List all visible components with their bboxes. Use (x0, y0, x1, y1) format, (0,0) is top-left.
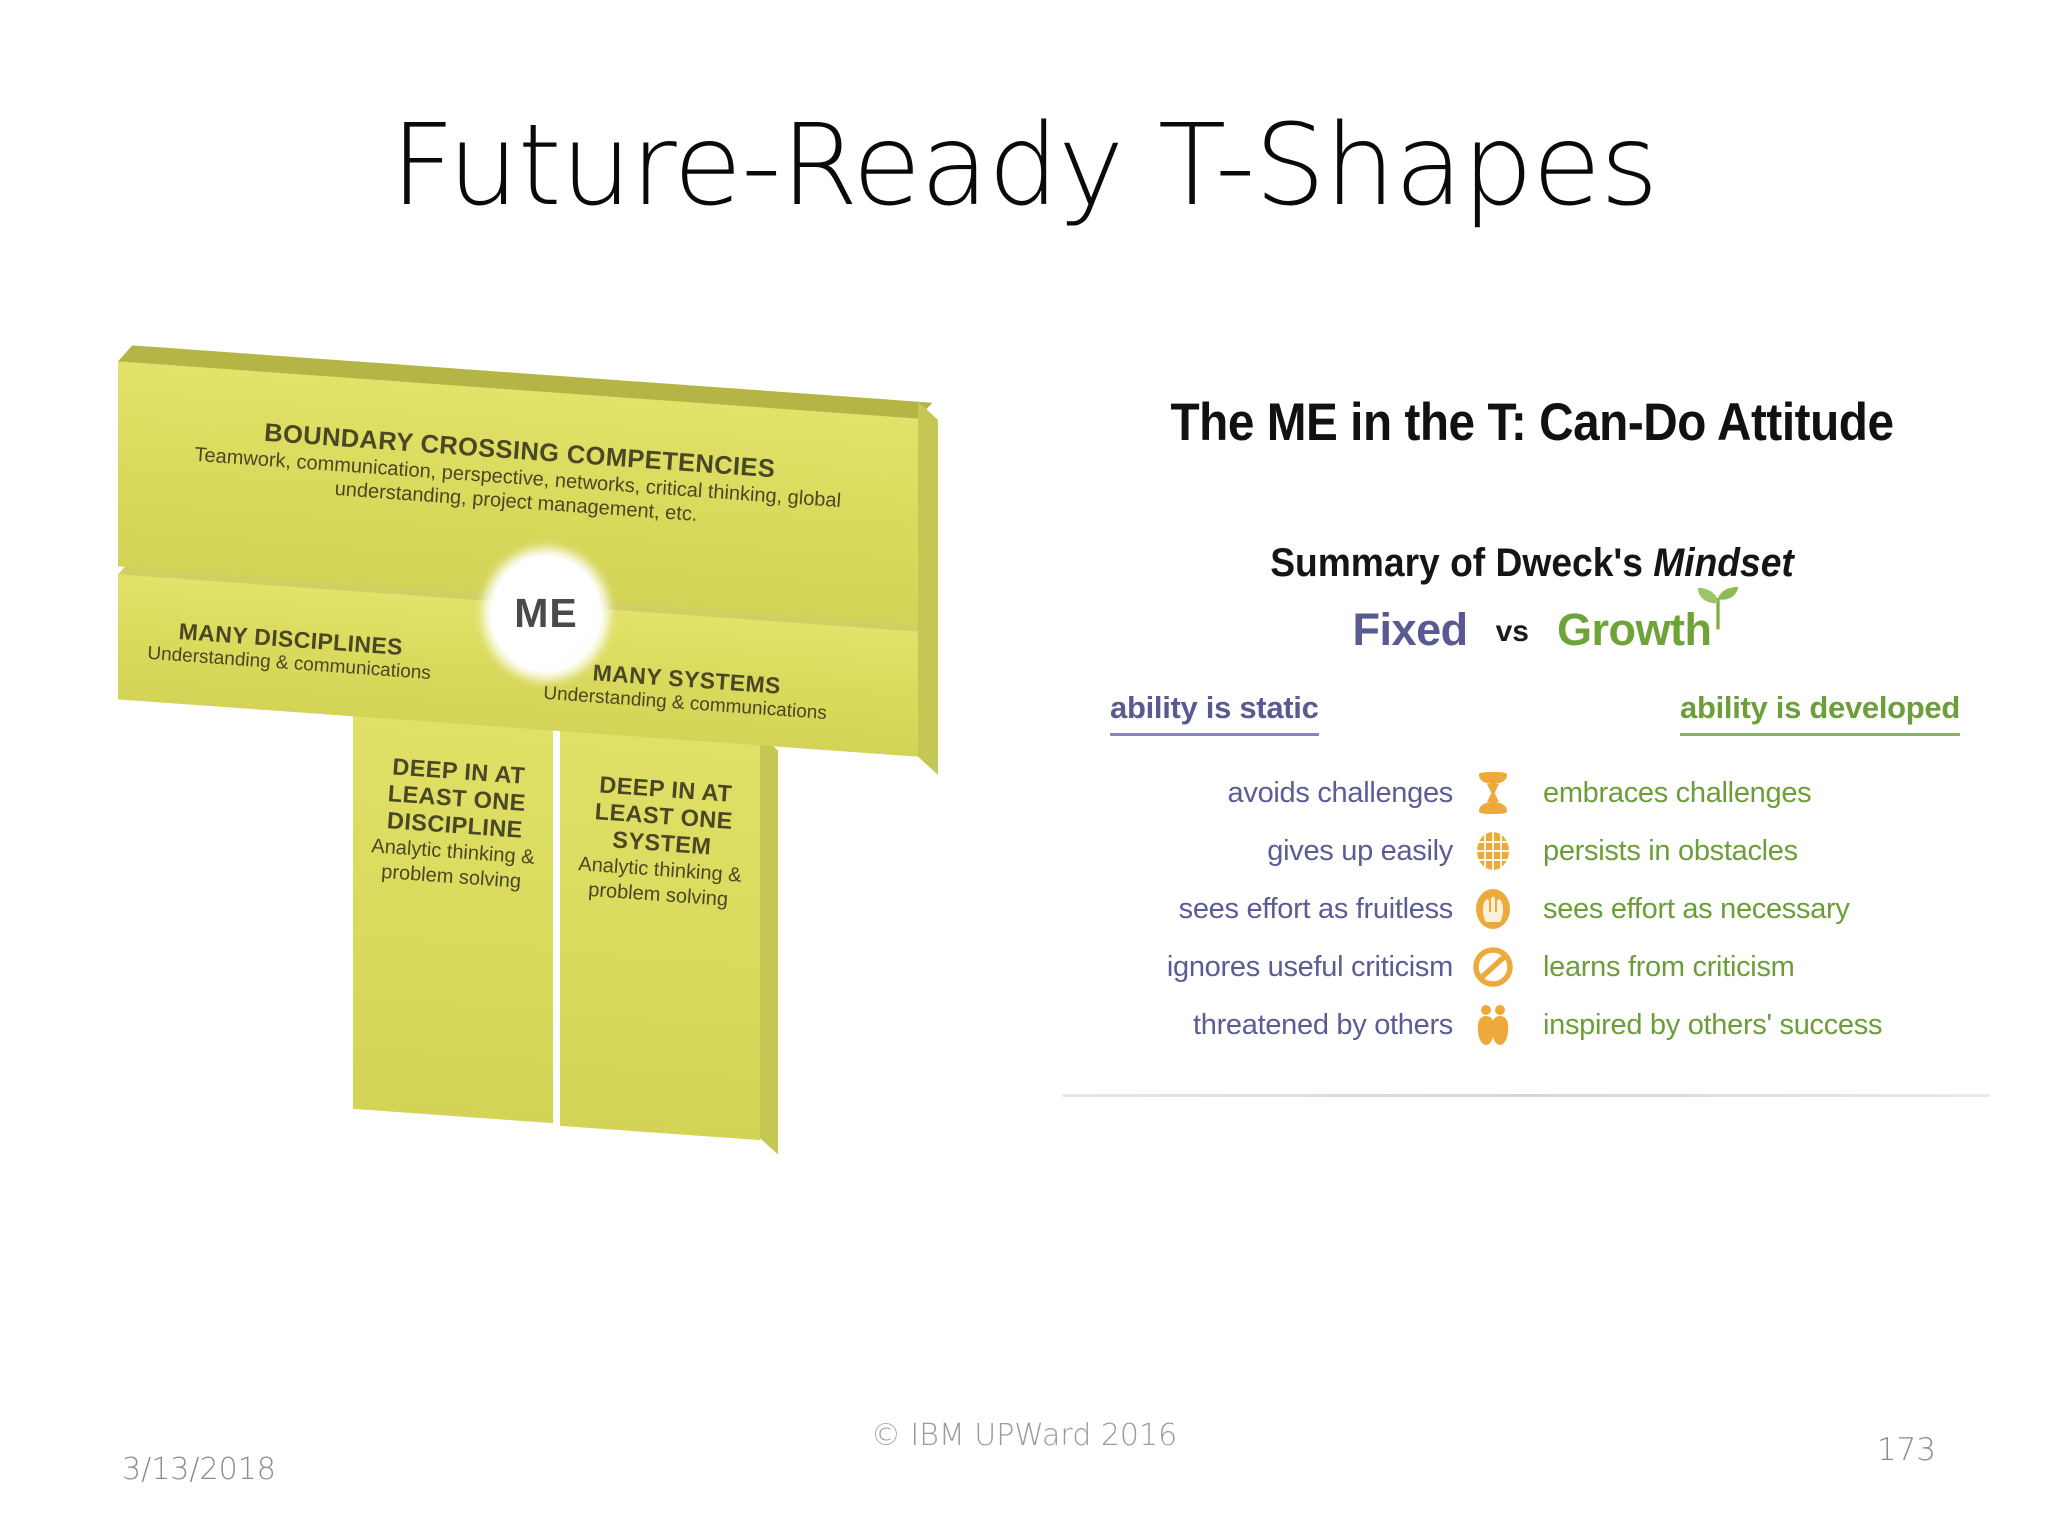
maze-ball-icon (1453, 830, 1533, 872)
row-fixed-text: avoids challenges (1101, 777, 1453, 810)
mindset-row: threatened by others inspired by others'… (1062, 996, 2002, 1054)
mindset-subtitle: Summary of Dweck's Mindset (1095, 541, 1969, 586)
mindset-row: avoids challenges embraces challenges (1062, 764, 2002, 822)
footer-copyright: © IBM UPWard 2016 (0, 1418, 2048, 1453)
label-deep-discipline-heading: DEEP IN AT LEAST ONE DISCIPLINE (365, 752, 548, 845)
t-shape-diagram: BOUNDARY CROSSING COMPETENCIES Teamwork,… (118, 378, 998, 1178)
mindset-row: sees effort as fruitless sees effort as … (1062, 880, 2002, 938)
slab-top-right-face (918, 402, 938, 642)
label-deep-system: DEEP IN AT LEAST ONE SYSTEM Analytic thi… (569, 770, 756, 914)
pillar-right-side-face (760, 734, 778, 1154)
column-header-growth: ability is developed (1680, 690, 1960, 736)
no-entry-icon (1453, 946, 1533, 988)
footer-page-number: 173 (1877, 1432, 1936, 1468)
hourglass-icon (1453, 771, 1533, 815)
label-deep-system-heading: DEEP IN AT LEAST ONE SYSTEM (572, 770, 755, 863)
lifting-hands-icon (1453, 888, 1533, 930)
mindset-column-headers: ability is static ability is developed (1062, 690, 2002, 736)
dweck-mindset-panel: The ME in the T: Can-Do Attitude Summary… (1062, 390, 2002, 1140)
row-fixed-text: sees effort as fruitless (1101, 893, 1453, 926)
mindset-bottom-divider (1062, 1094, 1990, 1097)
two-people-icon (1453, 1003, 1533, 1047)
growth-label: Growth (1557, 604, 1711, 655)
row-growth-text: persists in obstacles (1533, 835, 1963, 868)
row-growth-text: sees effort as necessary (1533, 893, 1963, 926)
mindset-title: The ME in the T: Can-Do Attitude (1109, 392, 1955, 453)
row-fixed-text: ignores useful criticism (1101, 951, 1453, 984)
sprout-icon (1695, 584, 1741, 630)
row-fixed-text: threatened by others (1101, 1009, 1453, 1042)
row-growth-text: inspired by others' success (1533, 1009, 1963, 1042)
column-header-fixed: ability is static (1110, 690, 1319, 736)
fixed-vs-growth-row: FixedvsGrowth (1062, 604, 2002, 656)
slide-canvas: Future-Ready T-Shapes BOUNDARY CROSSING … (0, 0, 2048, 1536)
footer-date: 3/13/2018 (122, 1452, 276, 1487)
page-title: Future-Ready T-Shapes (0, 108, 2048, 226)
fixed-label: Fixed (1353, 604, 1468, 655)
mindset-subtitle-italic: Mindset (1653, 541, 1794, 585)
mindset-row: ignores useful criticism learns from cri… (1062, 938, 2002, 996)
slab-mid-right-face (918, 623, 938, 775)
mindset-rows: avoids challenges embraces challenges gi… (1062, 764, 2002, 1054)
mindset-row: gives up easily persists in obstacles (1062, 822, 2002, 880)
me-badge-label: ME (514, 590, 578, 637)
row-fixed-text: gives up easily (1101, 835, 1453, 868)
vs-label: vs (1496, 615, 1529, 648)
mindset-subtitle-prefix: Summary of Dweck's (1270, 541, 1653, 585)
row-growth-text: learns from criticism (1533, 951, 1963, 984)
row-growth-text: embraces challenges (1533, 777, 1963, 810)
growth-label-wrap: Growth (1557, 604, 1711, 655)
me-badge: ME (490, 555, 602, 673)
label-deep-discipline: DEEP IN AT LEAST ONE DISCIPLINE Analytic… (362, 752, 549, 896)
